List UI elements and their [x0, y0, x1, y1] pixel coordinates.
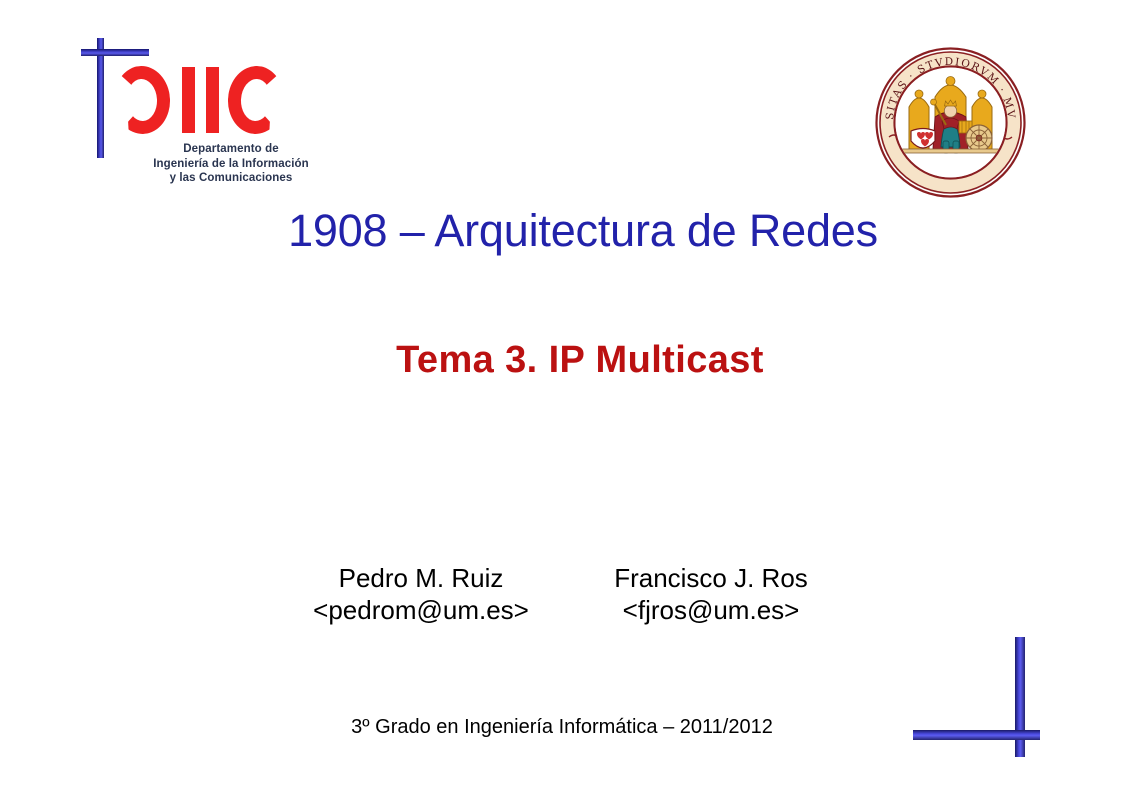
author-entry-2: Francisco J. Ros <fjros@um.es> [566, 562, 856, 626]
author-email-2: <fjros@um.es> [566, 594, 856, 626]
diic-cross-horizontal-bar-icon [81, 49, 149, 56]
course-title: 1908 – Arquitectura de Redes [0, 205, 1122, 257]
diic-subtitle: Departamento de Ingeniería de la Informa… [106, 142, 356, 186]
author-name-1: Pedro M. Ruiz [276, 562, 566, 594]
diic-wordmark-icon [112, 66, 302, 134]
topic-title: Tema 3. IP Multicast [0, 339, 1122, 382]
university-of-murcia-seal: VNIVERSITAS · STVDIORVM · MVRCIANA ANNO … [873, 45, 1028, 200]
decorative-cross-horizontal-bar-icon [913, 730, 1040, 740]
slide-canvas: Departamento de Ingeniería de la Informa… [0, 0, 1122, 793]
author-email-1: <pedrom@um.es> [276, 594, 566, 626]
diic-subtitle-line-1: Departamento de [106, 142, 356, 157]
decorative-cross [910, 630, 1050, 765]
diic-subtitle-line-3: y las Comunicaciones [106, 171, 356, 186]
author-name-2: Francisco J. Ros [566, 562, 856, 594]
author-entry-1: Pedro M. Ruiz <pedrom@um.es> [276, 562, 566, 626]
seal-graphic-icon: VNIVERSITAS · STVDIORVM · MVRCIANA ANNO … [873, 45, 1028, 200]
diic-i-glyph-first-icon [182, 67, 195, 133]
diic-i-glyph-second-icon [206, 67, 219, 133]
diic-logo: Departamento de Ingeniería de la Informa… [72, 28, 372, 193]
diic-reversed-c-glyph-icon [112, 65, 171, 136]
diic-cross-vertical-bar-icon [97, 38, 104, 158]
diic-subtitle-line-2: Ingeniería de la Información [106, 157, 356, 172]
diic-c-glyph-icon [226, 65, 285, 136]
authors-block: Pedro M. Ruiz <pedrom@um.es> Francisco J… [0, 562, 1122, 626]
